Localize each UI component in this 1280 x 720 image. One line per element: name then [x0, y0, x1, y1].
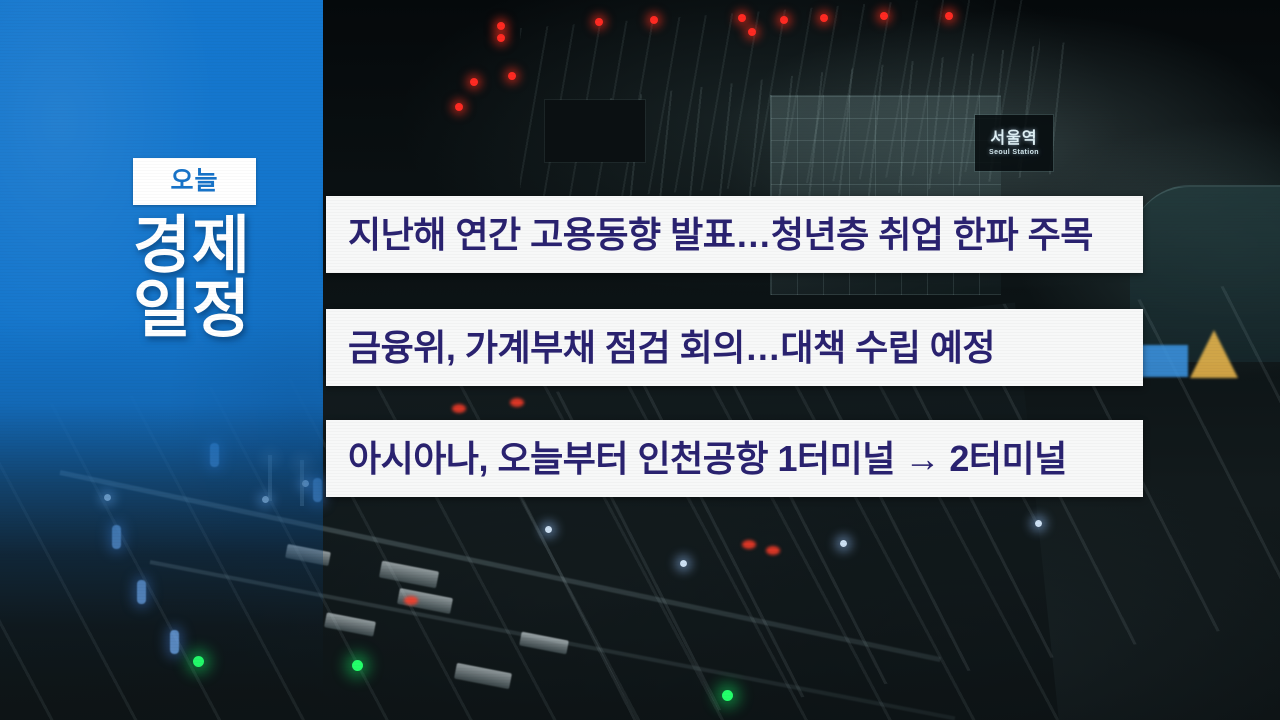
street-lamp-glow [545, 526, 552, 533]
rail-signal-red [945, 12, 953, 20]
headline-text-1: 지난해 연간 고용동향 발표…청년층 취업 한파 주목 [326, 217, 1107, 253]
station-sign-english: Seoul Station [989, 149, 1039, 156]
rail-signal-red [650, 16, 658, 24]
headline-bar-2: 금융위, 가계부채 점검 회의…대책 수립 예정 [326, 309, 1143, 386]
car-tail-light [452, 404, 466, 413]
program-title-line-2: 일정 [133, 278, 333, 342]
today-badge-label: 오늘 [170, 169, 218, 194]
rail-signal-red [470, 78, 478, 86]
station-sign-korean: 서울역 [990, 131, 1037, 147]
car-tail-light [510, 398, 524, 407]
gold-christmas-tree-light [1190, 330, 1238, 378]
billboard-panel [545, 100, 645, 162]
rail-signal-red [880, 12, 888, 20]
program-title-line-1: 경제 [133, 214, 333, 278]
seoul-station-sign: 서울역 Seoul Station [975, 115, 1053, 171]
headline-text-2: 금융위, 가계부채 점검 회의…대책 수립 예정 [326, 330, 1009, 366]
rail-signal-red [508, 72, 516, 80]
street-lamp-glow [680, 560, 687, 567]
brand-panel-sheen [0, 0, 323, 720]
brand-block: 오늘 경제 일정 [133, 158, 333, 343]
today-badge: 오늘 [133, 158, 256, 205]
rail-signal-red [820, 14, 828, 22]
rail-signal-red [497, 22, 505, 30]
broadcast-screen: 서울역 Seoul Station 오늘 경제 일정 지난해 연간 고용동향 발… [0, 0, 1280, 720]
headline-bar-1: 지난해 연간 고용동향 발표…청년층 취업 한파 주목 [326, 196, 1143, 273]
street-lamp-glow [1035, 520, 1042, 527]
street-lamp-glow [840, 540, 847, 547]
car-tail-light [742, 540, 756, 549]
rail-signal-red [748, 28, 756, 36]
rail-signal-red [738, 14, 746, 22]
brand-blue-panel [0, 0, 323, 720]
traffic-signal-green [352, 660, 363, 671]
rail-signal-red [497, 34, 505, 42]
headline-text-3: 아시아나, 오늘부터 인천공항 1터미널 → 2터미널 [326, 441, 1081, 477]
rail-signal-red [780, 16, 788, 24]
rail-signal-red [595, 18, 603, 26]
traffic-signal-green [722, 690, 733, 701]
program-title: 경제 일정 [133, 214, 333, 343]
car-tail-light [766, 546, 780, 555]
rail-signal-red [455, 103, 463, 111]
car-tail-light [404, 596, 418, 605]
blue-illuminated-object [1136, 345, 1188, 377]
headline-bar-3: 아시아나, 오늘부터 인천공항 1터미널 → 2터미널 [326, 420, 1143, 497]
